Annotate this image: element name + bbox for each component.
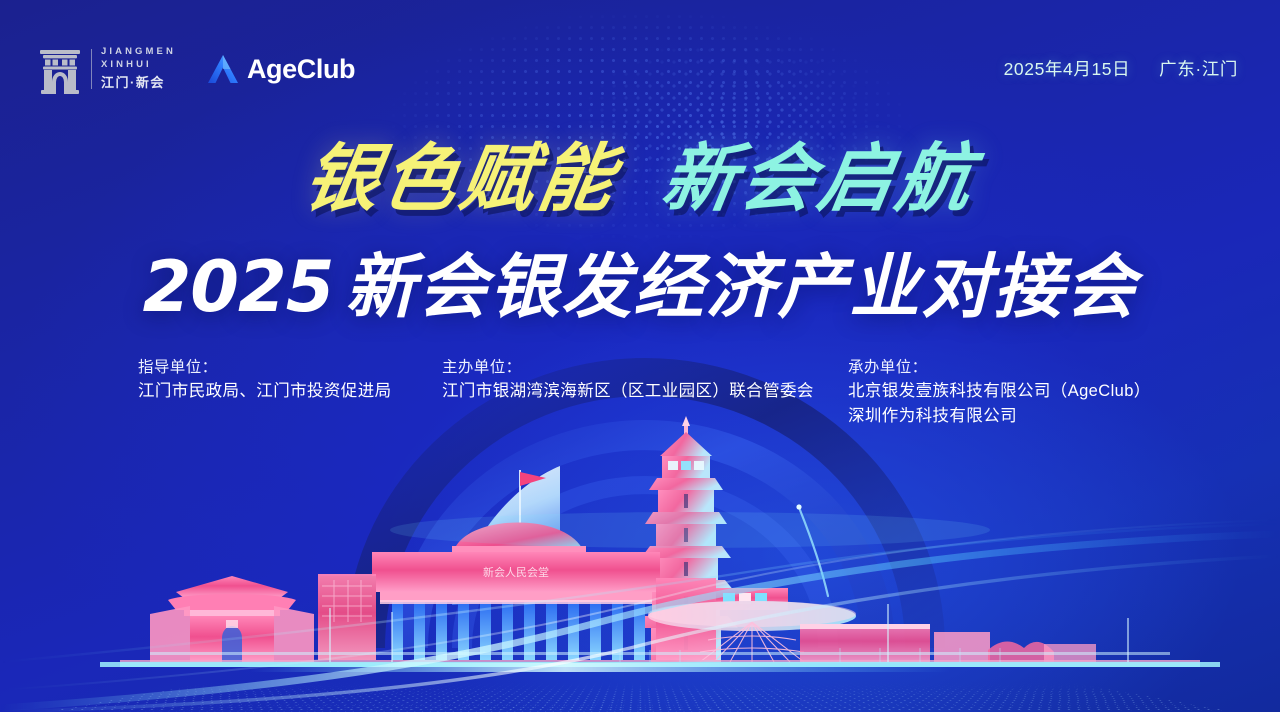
title-year: 2025 (143, 246, 334, 328)
jiangmen-en-line2: XINHUI (101, 60, 176, 71)
event-meta: 2025年4月15日 广东·江门 (1004, 56, 1238, 81)
slogan-part-a: 银色赋能 (299, 142, 623, 216)
city-skyline-illustration: 新会人民会堂 (0, 400, 1280, 712)
gate-archway-icon (38, 44, 82, 94)
organiser-label: 主办单位： (442, 356, 814, 379)
jiangmen-xinhui-logo: JIANGMEN XINHUI 江门·新会 (38, 44, 176, 94)
jiangmen-logo-text: JIANGMEN XINHUI 江门·新会 (101, 47, 176, 90)
organiser-block-host: 主办单位： 江门市银湖湾滨海新区（区工业园区）联合管委会 (442, 356, 814, 404)
right-low-buildings (988, 641, 1096, 662)
ageclub-logo: AgeClub (206, 52, 355, 86)
logo-divider (91, 49, 92, 89)
title-name: 新会银发经济产业对接会 (345, 246, 1137, 328)
ageclub-name: AgeClub (247, 54, 355, 85)
conference-poster: JIANGMEN XINHUI 江门·新会 (0, 0, 1280, 712)
traditional-gate (150, 576, 314, 662)
poster-header: JIANGMEN XINHUI 江门·新会 (0, 0, 1280, 120)
svg-text:新会人民会堂: 新会人民会堂 (483, 565, 549, 579)
event-location: 广东·江门 (1159, 59, 1238, 79)
slogan-part-b: 新会启航 (657, 142, 981, 216)
jiangmen-cn-name: 江门·新会 (101, 75, 176, 91)
logo-group: JIANGMEN XINHUI 江门·新会 (38, 44, 355, 94)
organiser-label: 指导单位： (138, 356, 392, 379)
organiser-block-guidance: 指导单位： 江门市民政局、江门市投资促进局 (138, 356, 392, 404)
organiser-label: 承办单位： (848, 356, 1151, 379)
event-date: 2025年4月15日 (1004, 59, 1131, 79)
ageclub-chevron-icon (206, 52, 240, 86)
page-title: 2025新会银发经济产业对接会 (0, 250, 1280, 326)
event-slogan: 银色赋能新会启航 (0, 142, 1280, 216)
jiangmen-en-line1: JIANGMEN (101, 47, 176, 58)
